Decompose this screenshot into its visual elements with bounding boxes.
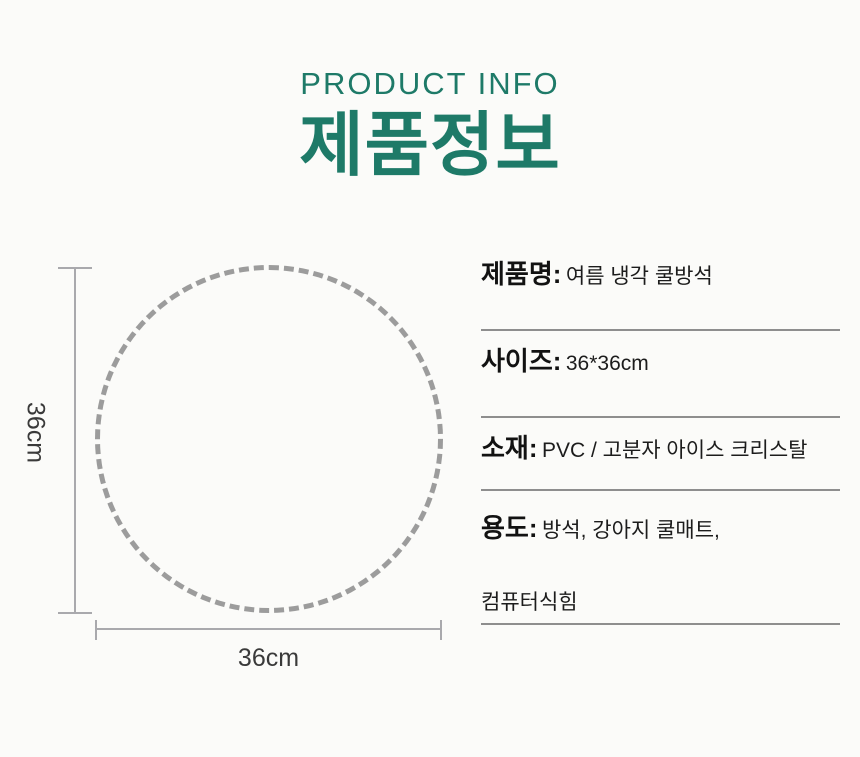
spec-label: 제품명: (481, 259, 561, 289)
spec-line: 소재: PVC / 고분자 아이스 크리스탈 (481, 432, 808, 465)
spec-separator (481, 329, 840, 331)
spec-line: 사이즈: 36*36cm (481, 345, 649, 378)
spec-line: 제품명: 여름 냉각 쿨방석 (481, 258, 713, 291)
vertical-dimension-cap-bottom (58, 612, 92, 614)
vertical-dimension-line (74, 268, 76, 613)
spec-separator (481, 489, 840, 491)
spec-value: PVC / 고분자 아이스 크리스탈 (542, 439, 808, 462)
horizontal-dimension-label: 36cm (96, 646, 441, 671)
horizontal-dimension-cap-right (440, 620, 442, 640)
spec-separator (481, 623, 840, 625)
header-eyebrow: PRODUCT INFO (0, 68, 860, 99)
spec-value-continuation: 컴퓨터식힘 (481, 590, 578, 616)
spec-value: 36*36cm (566, 352, 649, 375)
horizontal-dimension-line (96, 628, 441, 630)
product-info-page: PRODUCT INFO 제품정보 36cm 36cm 제품명: 여름 냉각 쿨… (0, 0, 860, 757)
spec-label: 소재: (481, 433, 538, 463)
dimension-diagram: 36cm 36cm (0, 250, 460, 690)
spec-value: 방석, 강아지 쿨매트, (542, 519, 720, 542)
spec-label: 용도: (481, 513, 538, 543)
spec-label: 사이즈: (481, 346, 561, 376)
vertical-dimension-label: 36cm (23, 385, 48, 481)
page-title: 제품정보 (0, 110, 860, 180)
spec-separator (481, 416, 840, 418)
spec-value: 여름 냉각 쿨방석 (566, 265, 713, 288)
dashed-circle-outline (95, 265, 443, 613)
horizontal-dimension-cap-left (95, 620, 97, 640)
spec-line: 용도: 방석, 강아지 쿨매트, (481, 512, 720, 545)
